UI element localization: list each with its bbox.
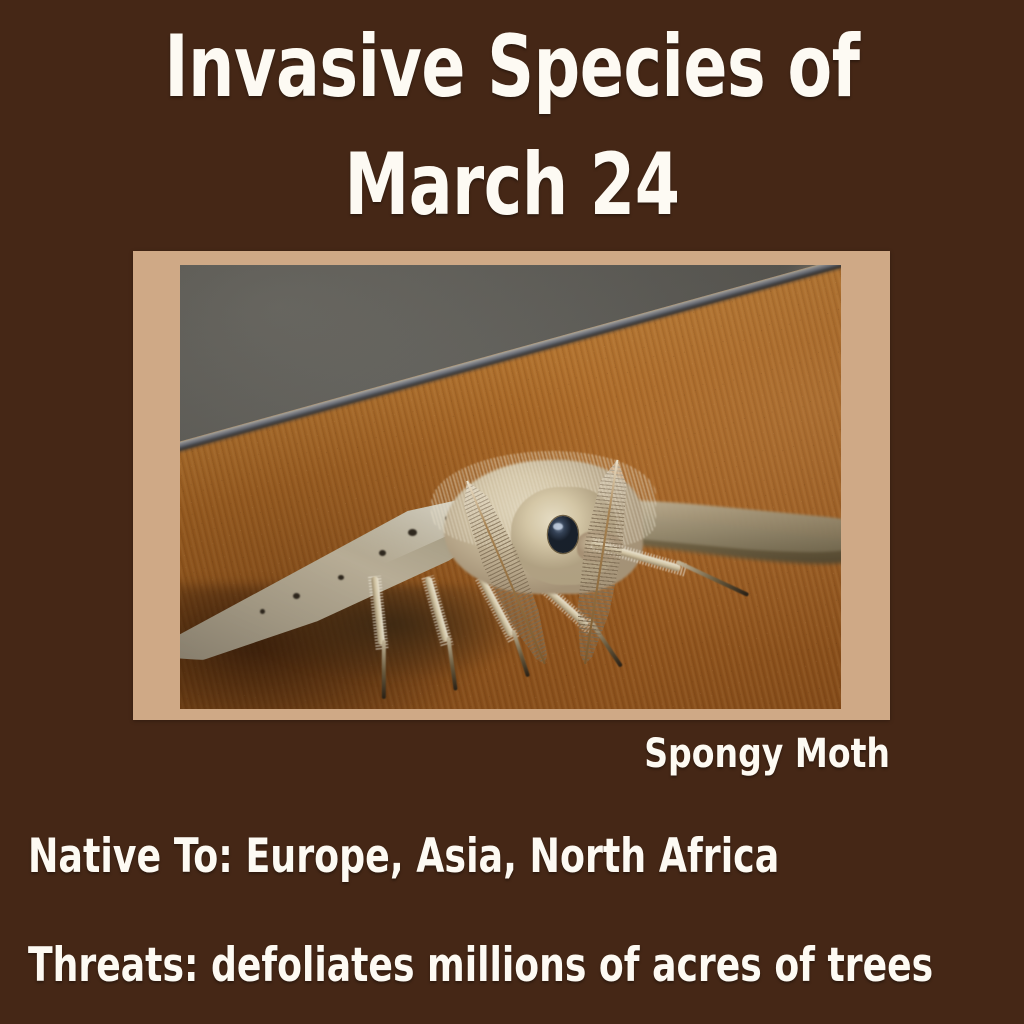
species-photo bbox=[180, 265, 841, 709]
photo-frame bbox=[133, 251, 890, 720]
title-line-2: March 24 bbox=[82, 126, 942, 244]
moth-eye bbox=[548, 516, 578, 552]
fact-native-to: Native To: Europe, Asia, North Africa bbox=[28, 829, 779, 884]
photo-caption: Spongy Moth bbox=[71, 728, 890, 780]
photo-scene bbox=[180, 265, 841, 709]
title-line-1: Invasive Species of bbox=[82, 8, 942, 126]
page-title: Invasive Species of March 24 bbox=[0, 8, 1024, 244]
fact-threats: Threats: defoliates millions of acres of… bbox=[28, 938, 933, 993]
spongy-moth bbox=[180, 265, 841, 709]
moth-leg-tarsus bbox=[676, 560, 750, 597]
moth-leg-tarsus bbox=[382, 640, 386, 699]
moth-eye-glint bbox=[553, 523, 563, 530]
invasive-species-poster: Invasive Species of March 24 bbox=[0, 0, 1024, 1024]
